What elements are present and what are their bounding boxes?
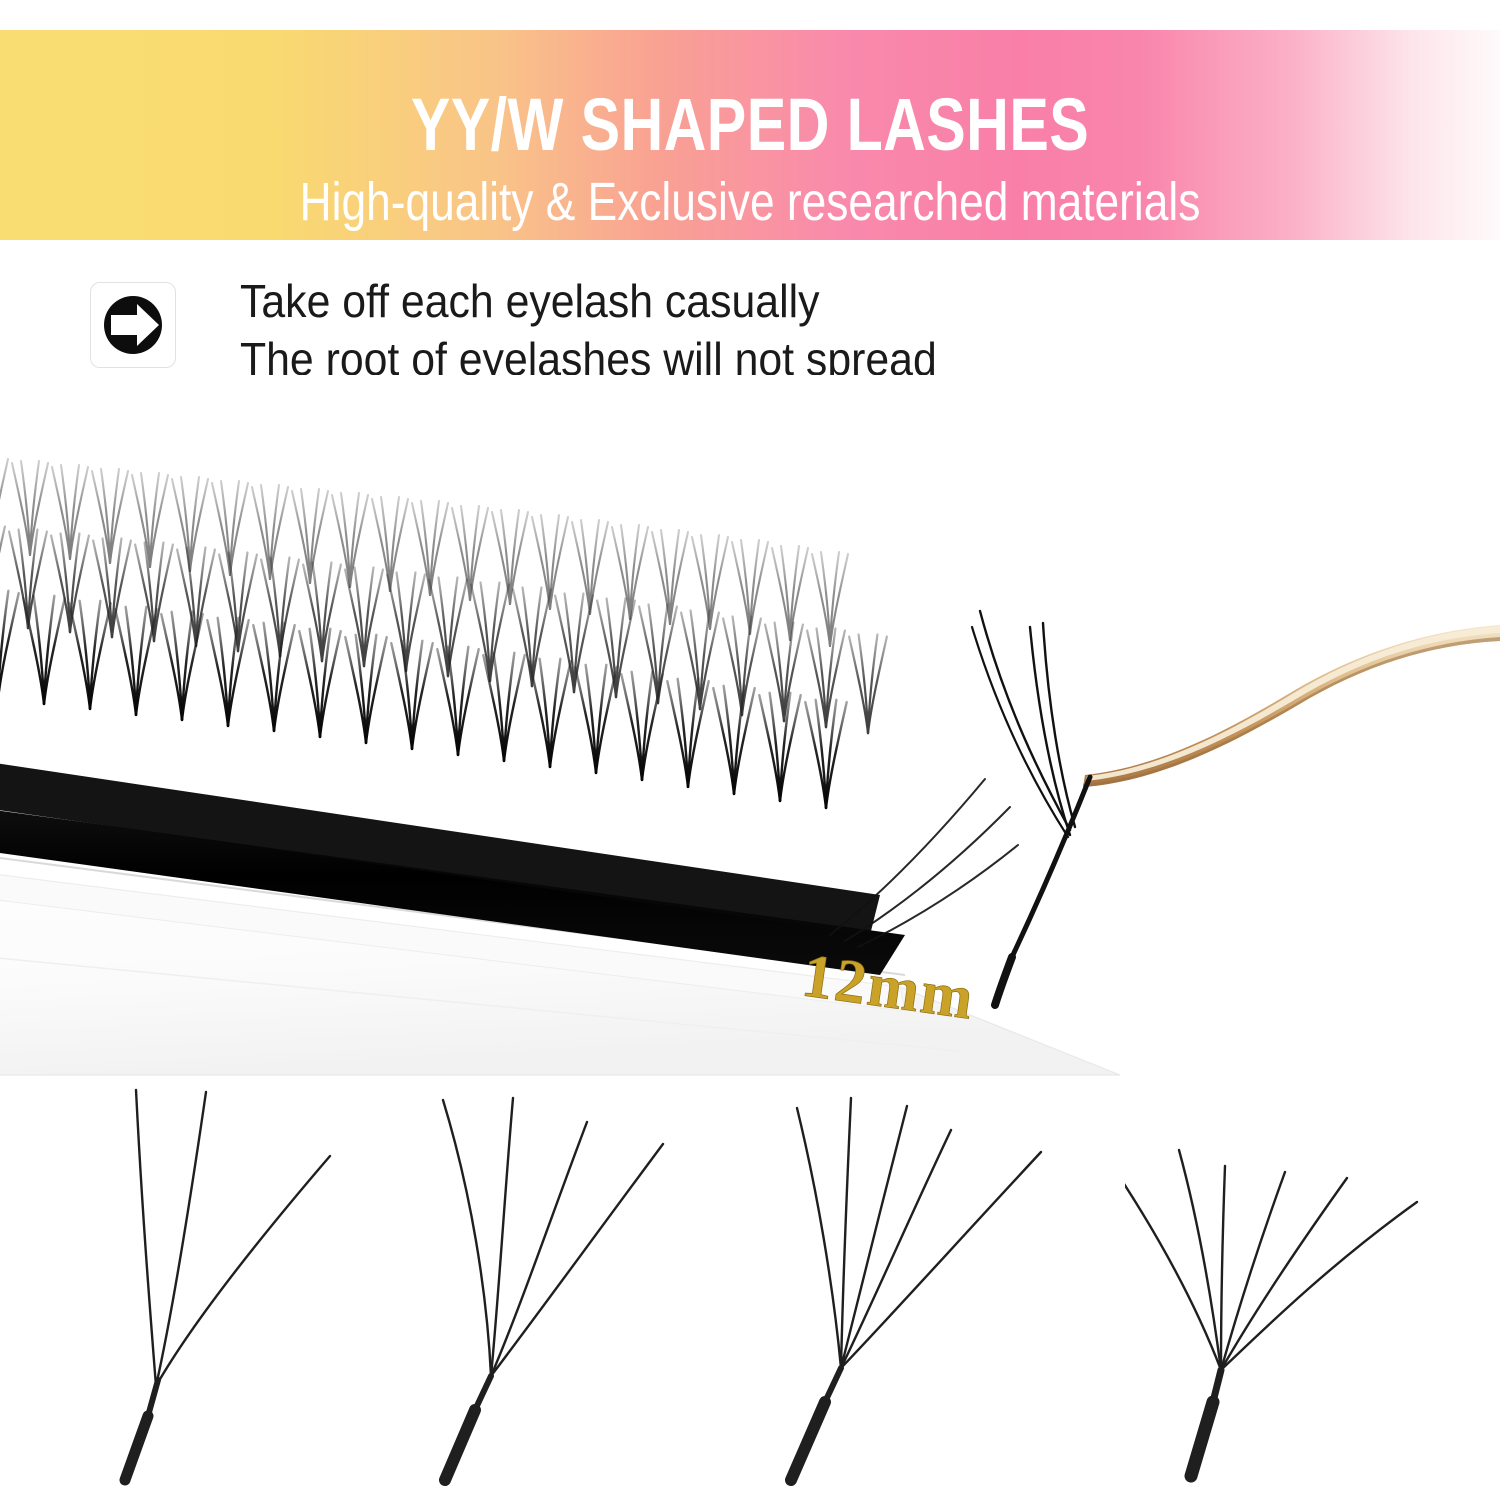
lash-fan-5d-icon bbox=[755, 1080, 1125, 1500]
product-photo: 12mm bbox=[0, 375, 1500, 1165]
page-title: YY/W SHAPED LASHES bbox=[150, 86, 1350, 164]
lash-fan-specimen-4 bbox=[1125, 1080, 1495, 1500]
lash-fan-3d-icon bbox=[30, 1080, 400, 1500]
arrow-right-circle-icon bbox=[91, 283, 175, 367]
lash-fan-6d-icon bbox=[1125, 1080, 1495, 1500]
lash-fan-specimen-row bbox=[0, 1080, 1500, 1500]
lash-fan-4d-icon bbox=[395, 1080, 765, 1500]
instruction-line-1: Take off each eyelash casually bbox=[240, 272, 1310, 330]
lash-fan-specimen-1 bbox=[30, 1080, 400, 1500]
header-banner: YY/W SHAPED LASHES High-quality & Exclus… bbox=[0, 30, 1500, 240]
instruction-text: Take off each eyelash casually The root … bbox=[240, 272, 1390, 388]
instruction-row: Take off each eyelash casually The root … bbox=[90, 280, 1410, 390]
lash-fan-specimen-2 bbox=[395, 1080, 765, 1500]
instruction-icon-box bbox=[90, 282, 176, 368]
lash-tray-illustration: 12mm bbox=[0, 375, 1500, 1165]
page-subtitle: High-quality & Exclusive researched mate… bbox=[135, 172, 1365, 232]
lash-fan-specimen-3 bbox=[755, 1080, 1125, 1500]
